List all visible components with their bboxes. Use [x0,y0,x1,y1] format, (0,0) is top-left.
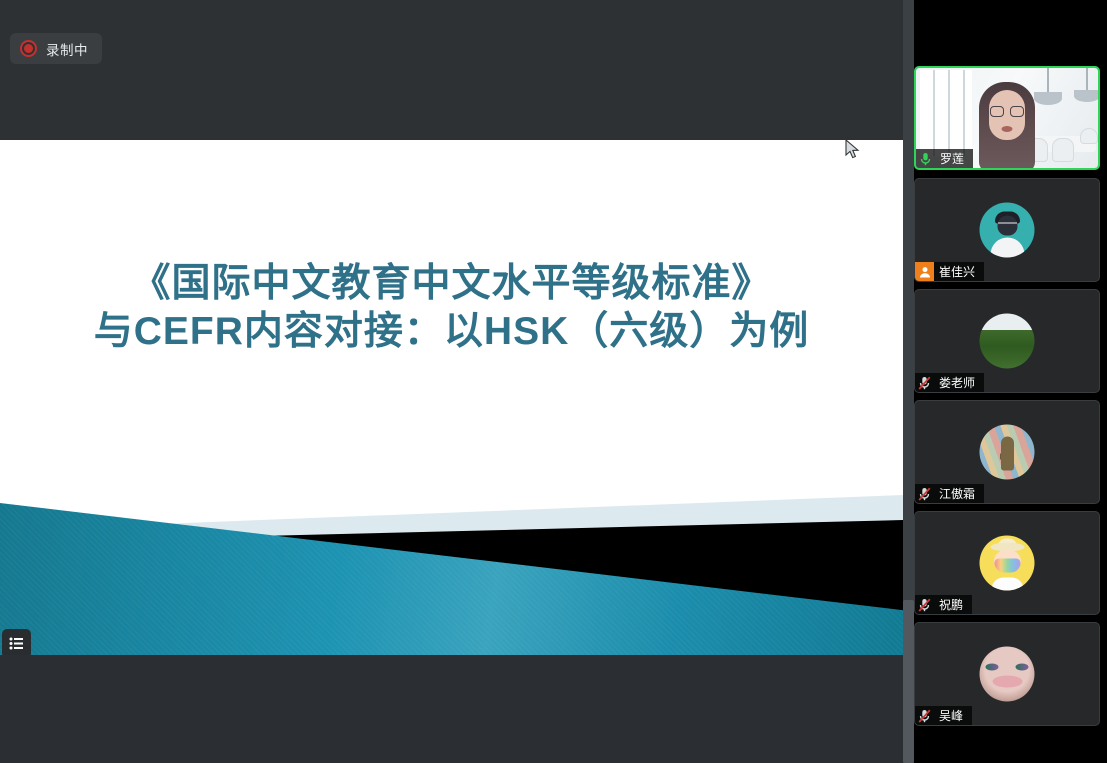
avatar [980,647,1035,702]
participant-tile-wufeng[interactable]: 吴峰 [914,622,1100,726]
participant-filmstrip[interactable]: 罗莲 崔佳兴 [914,0,1107,763]
participant-nameplate: 祝鹏 [915,595,972,614]
avatar [980,314,1035,369]
microphone-muted-icon [915,484,934,503]
mouse-cursor [845,139,861,161]
slide-title: 《国际中文教育中文水平等级标准》 与CEFR内容对接：以HSK（六级）为例 [0,260,903,356]
participant-name: 江傲霜 [939,485,975,502]
zoom-meeting-window: 录制中 《国际中文教育中文水平等级标准》 与CEFR内容对接：以HSK（六级）为… [0,0,1107,763]
participant-name: 娄老师 [939,374,975,391]
participant-nameplate: 吴峰 [915,706,972,725]
recording-badge[interactable]: 录制中 [10,33,102,64]
participant-tile-zhupeng[interactable]: 祝鹏 [914,511,1100,615]
microphone-muted-icon [915,706,934,725]
slide-bullet-list-button[interactable] [2,629,31,655]
record-icon [20,40,37,57]
participant-nameplate: 江傲霜 [915,484,984,503]
participant-tile-jiangaoshuang[interactable]: 江傲霜 [914,400,1100,504]
microphone-muted-icon [915,595,934,614]
participant-name: 崔佳兴 [939,263,975,280]
shared-screen-top-bar [0,0,903,140]
participant-nameplate: 罗莲 [916,149,973,168]
presentation-slide[interactable]: 《国际中文教育中文水平等级标准》 与CEFR内容对接：以HSK（六级）为例 [0,140,903,655]
participant-name: 祝鹏 [939,596,963,613]
shared-screen-scrollbar-thumb[interactable] [903,600,914,763]
shared-screen-area: 录制中 《国际中文教育中文水平等级标准》 与CEFR内容对接：以HSK（六级）为… [0,0,903,763]
participant-nameplate: 娄老师 [915,373,984,392]
host-person-icon [915,262,934,281]
avatar [980,536,1035,591]
participant-name: 吴峰 [939,707,963,724]
recording-label: 录制中 [46,39,88,59]
avatar [980,425,1035,480]
participant-tile-cuijiaxing[interactable]: 崔佳兴 [914,178,1100,282]
participant-name: 罗莲 [940,150,964,167]
microphone-icon [916,149,935,168]
participant-tile-luolian[interactable]: 罗莲 [914,66,1100,170]
bullet-list-icon [9,637,24,650]
microphone-muted-icon [915,373,934,392]
avatar [980,203,1035,258]
participant-nameplate: 崔佳兴 [915,262,984,281]
participant-tile-loulaoshi[interactable]: 娄老师 [914,289,1100,393]
shared-screen-filler [0,655,903,763]
